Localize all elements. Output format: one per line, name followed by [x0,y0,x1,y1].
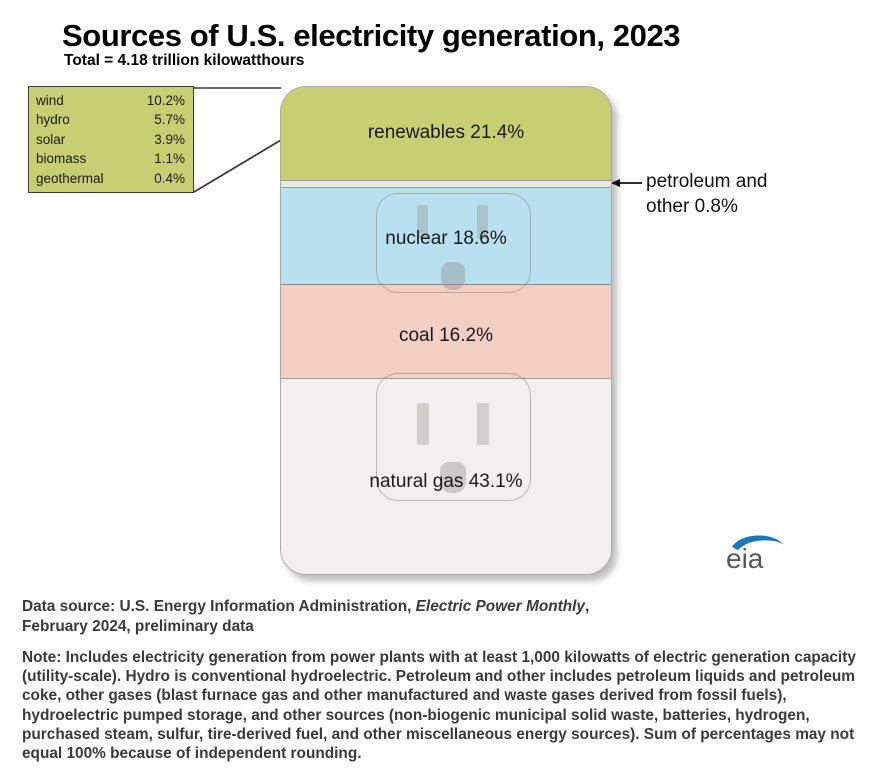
eia-logo: eia [716,527,794,573]
list-item: solar 3.9% [36,130,185,149]
segment-label-nuclear: nuclear 18.6% [281,228,611,250]
callout-line-1: petroleum and [646,169,767,194]
socket-upper-ground-hole [441,262,465,290]
legend-label: geothermal [36,169,104,188]
legend-label: wind [36,91,64,110]
legend-label: biomass [36,149,86,168]
page-title: Sources of U.S. electricity generation, … [62,18,680,54]
legend-value: 5.7% [154,110,185,129]
segment-petroleum-other [281,181,611,188]
methodology-note: Note: Includes electricity generation fr… [22,648,868,763]
legend-label: solar [36,130,65,149]
segment-label-coal: coal 16.2% [281,325,611,347]
source-prefix: Data source: U.S. Energy Information Adm… [22,598,416,615]
source-line-2: February 2024, preliminary data [22,618,254,635]
page-subtitle: Total = 4.18 trillion kilowatthours [64,52,304,70]
legend-label: hydro [36,110,70,129]
data-source-note: Data source: U.S. Energy Information Adm… [22,597,862,636]
segment-label-natural-gas: natural gas 43.1% [281,471,611,493]
electrical-outlet-chart: renewables 21.4% nuclear 18.6% coal 16.2… [280,86,612,575]
segment-label-renewables: renewables 21.4% [281,122,611,144]
legend-value: 1.1% [154,149,185,168]
socket-lower-slot-left [417,403,429,445]
renewables-breakdown-legend: wind 10.2% hydro 5.7% solar 3.9% biomass… [28,86,194,193]
list-item: hydro 5.7% [36,110,185,129]
source-suffix: , [585,598,589,615]
source-publication: Electric Power Monthly [416,598,585,615]
callout-line-2: other 0.8% [646,194,767,219]
legend-value: 3.9% [154,130,185,149]
socket-lower-slot-right [477,403,489,445]
petroleum-other-callout: petroleum and other 0.8% [646,169,767,219]
list-item: biomass 1.1% [36,149,185,168]
legend-value: 10.2% [147,91,185,110]
list-item: geothermal 0.4% [36,169,185,188]
list-item: wind 10.2% [36,91,185,110]
eia-logo-text: eia [726,543,764,573]
infographic-canvas: Sources of U.S. electricity generation, … [0,0,883,770]
legend-value: 0.4% [154,169,185,188]
